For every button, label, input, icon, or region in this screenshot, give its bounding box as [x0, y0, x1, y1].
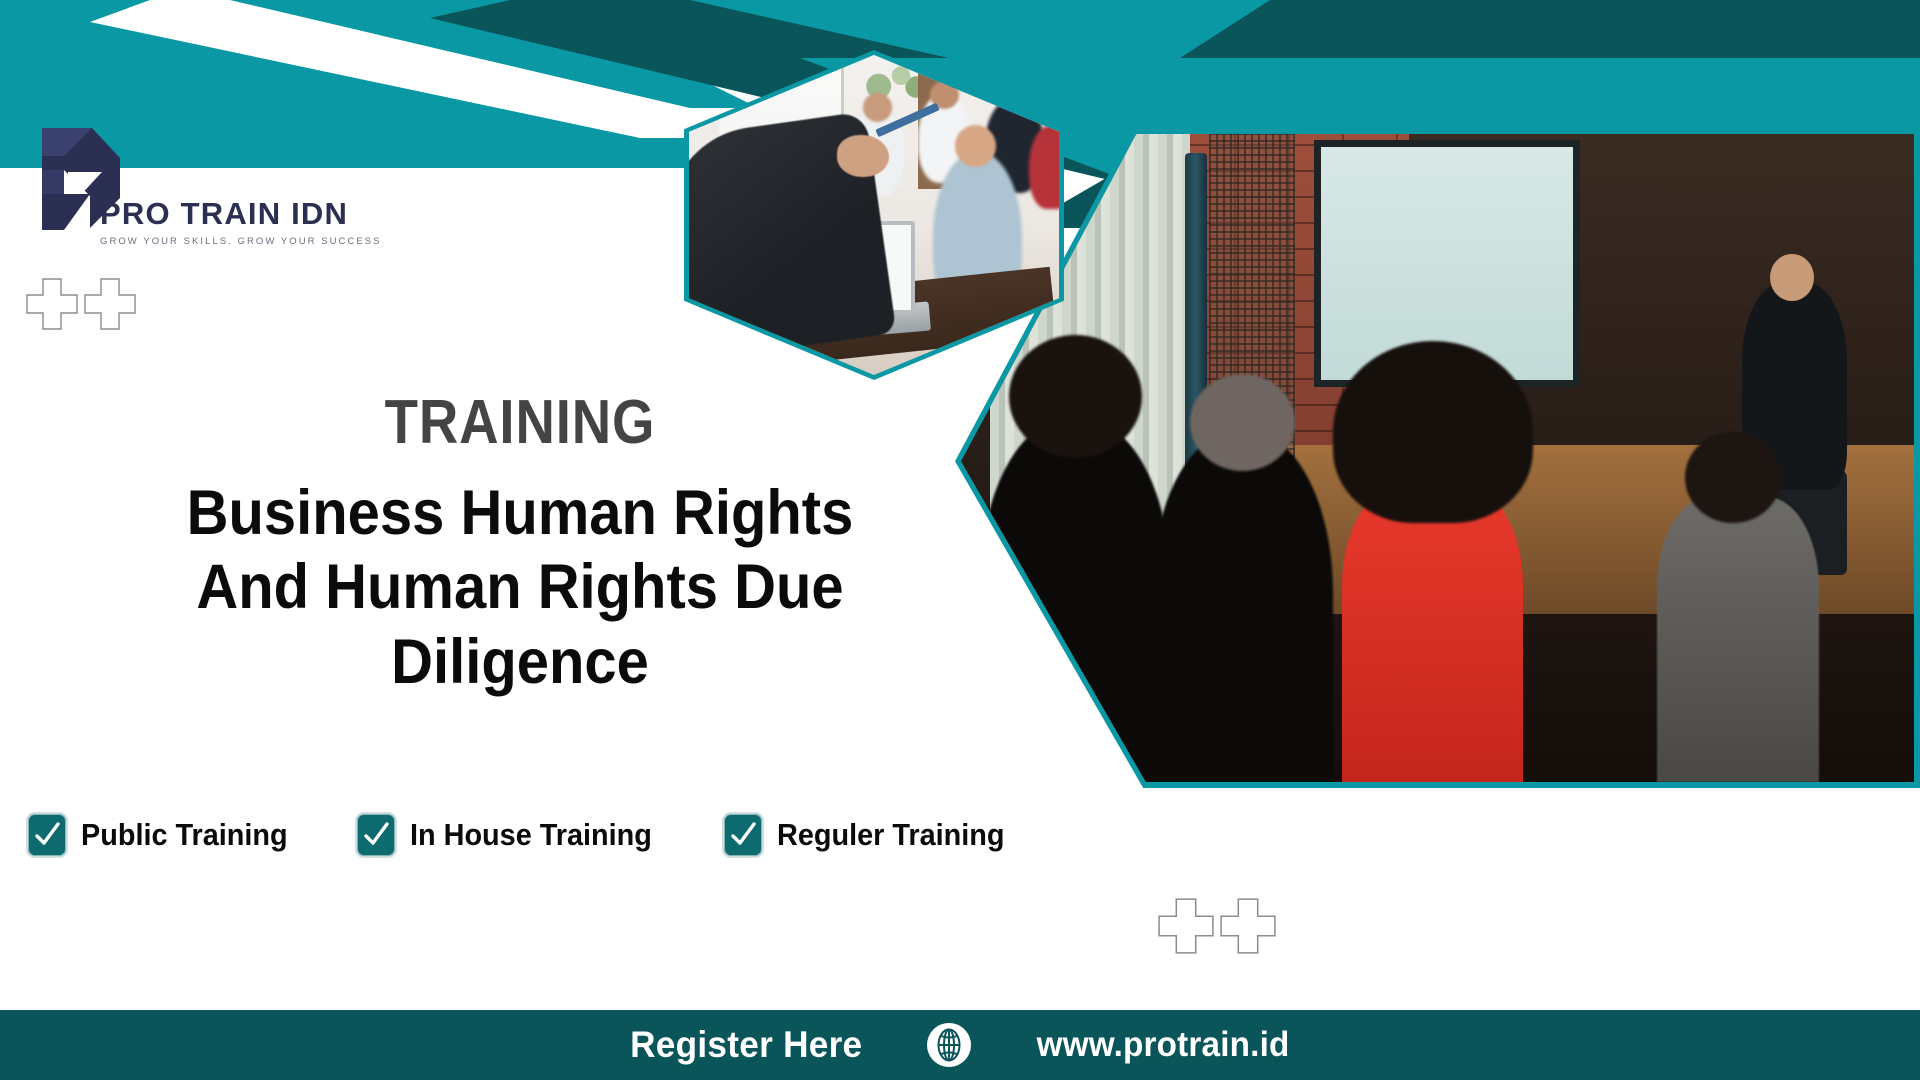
checkbox-public-training[interactable] — [26, 812, 68, 858]
list-item[interactable]: In House Training — [355, 812, 670, 858]
cross-pair-lower-center — [1158, 898, 1276, 954]
checkmark-icon — [362, 821, 390, 849]
checkmark-icon — [33, 821, 61, 849]
cross-icon — [84, 278, 136, 330]
decor-band-dark-upper — [1180, 0, 1920, 58]
brand-tagline: GROW YOUR SKILLS. GROW YOUR SUCCESS — [100, 236, 382, 247]
seminar-audience-scene — [961, 134, 1914, 782]
seminar-audience-photo — [961, 134, 1914, 782]
checkbox-in-house-training[interactable] — [355, 812, 397, 858]
list-item[interactable]: Public Training — [26, 812, 303, 858]
kicker-training: TRAINING — [62, 392, 977, 454]
brand-name: PRO TRAIN IDN — [100, 198, 382, 229]
page-title: Business Human Rights And Human Rights D… — [42, 476, 999, 699]
footer-bar: Register Here www.protrain.id — [0, 1010, 1920, 1080]
register-here-cta[interactable]: Register Here — [630, 1024, 862, 1066]
cross-pair-upper-left — [26, 278, 136, 330]
checkbox-reguler-training[interactable] — [722, 812, 764, 858]
brand-logo-text: PRO TRAIN IDN GROW YOUR SKILLS. GROW YOU… — [100, 198, 382, 247]
list-item[interactable]: Reguler Training — [722, 812, 1022, 858]
website-url[interactable]: www.protrain.id — [1037, 1025, 1290, 1065]
globe-icon — [926, 1022, 972, 1068]
training-types-list: Public Training In House Training Regule… — [26, 812, 1022, 858]
cross-icon — [1220, 898, 1276, 954]
cross-icon — [1158, 898, 1214, 954]
checkmark-icon — [729, 821, 757, 849]
brand-logo[interactable]: PRO TRAIN IDN GROW YOUR SKILLS. GROW YOU… — [24, 120, 324, 255]
headline-block: TRAINING Business Human Rights And Human… — [0, 392, 1040, 699]
list-item-label: Reguler Training — [777, 817, 1004, 853]
list-item-label: In House Training — [410, 817, 652, 853]
cross-icon — [26, 278, 78, 330]
list-item-label: Public Training — [81, 817, 288, 853]
poster-canvas: PRO TRAIN IDN GROW YOUR SKILLS. GROW YOU… — [0, 0, 1920, 1080]
